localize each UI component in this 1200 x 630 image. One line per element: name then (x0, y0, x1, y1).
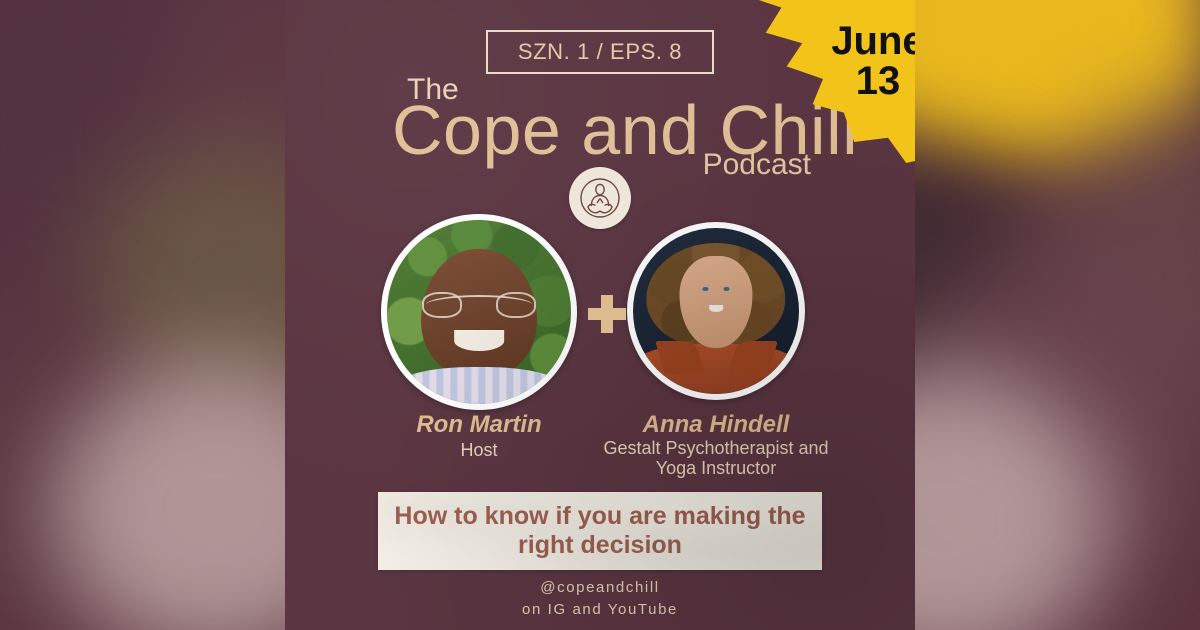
lotus-badge (569, 167, 631, 229)
backdrop-fill-right (900, 0, 1200, 630)
plus-icon (588, 295, 626, 333)
date-day: 13 (803, 62, 915, 102)
guest-photo-anna-hindell (627, 222, 805, 400)
show-title-suffix: Podcast (285, 148, 811, 182)
poster-panel: SZN. 1 / EPS. 8 June 13 The Cope and Chi… (285, 0, 915, 630)
podcast-promo-canvas: SZN. 1 / EPS. 8 June 13 The Cope and Chi… (0, 0, 1200, 630)
portrait-illustration-anna (633, 228, 799, 394)
backdrop-blur-right (900, 0, 1200, 630)
meditating-lotus-figure-icon (577, 175, 623, 221)
portrait-glasses-bridge (426, 295, 533, 315)
guest-role-anna-hindell: Gestalt Psychotherapist and Yoga Instruc… (585, 438, 847, 478)
backdrop-fill-left (0, 0, 300, 630)
season-episode-badge: SZN. 1 / EPS. 8 (486, 30, 714, 74)
social-platforms: on IG and YouTube (285, 599, 915, 621)
guest-photo-inner (633, 228, 799, 394)
guest-name-anna-hindell: Anna Hindell (620, 411, 812, 439)
date-badge-text: June 13 (803, 22, 915, 101)
episode-title: How to know if you are making the right … (378, 502, 822, 561)
portrait-smile (709, 305, 724, 312)
episode-title-panel: How to know if you are making the right … (378, 492, 822, 570)
plus-bar-vertical (601, 295, 613, 333)
backdrop-blur-left (0, 0, 300, 630)
portrait-eye-right (724, 287, 729, 291)
portrait-shirt (394, 367, 563, 404)
social-handle: @copeandchill (285, 577, 915, 599)
season-episode-label: SZN. 1 / EPS. 8 (518, 39, 682, 65)
date-month: June (803, 22, 915, 62)
portrait-eye-left (703, 287, 708, 291)
footer-social: @copeandchill on IG and YouTube (285, 577, 915, 621)
guest-photo-ron-martin (381, 214, 577, 410)
guest-name-ron-martin: Ron Martin (380, 411, 578, 439)
portrait-illustration-ron (387, 220, 571, 404)
guest-role-ron-martin: Host (380, 440, 578, 460)
portrait-smile (454, 330, 504, 350)
guest-photo-inner (387, 220, 571, 404)
